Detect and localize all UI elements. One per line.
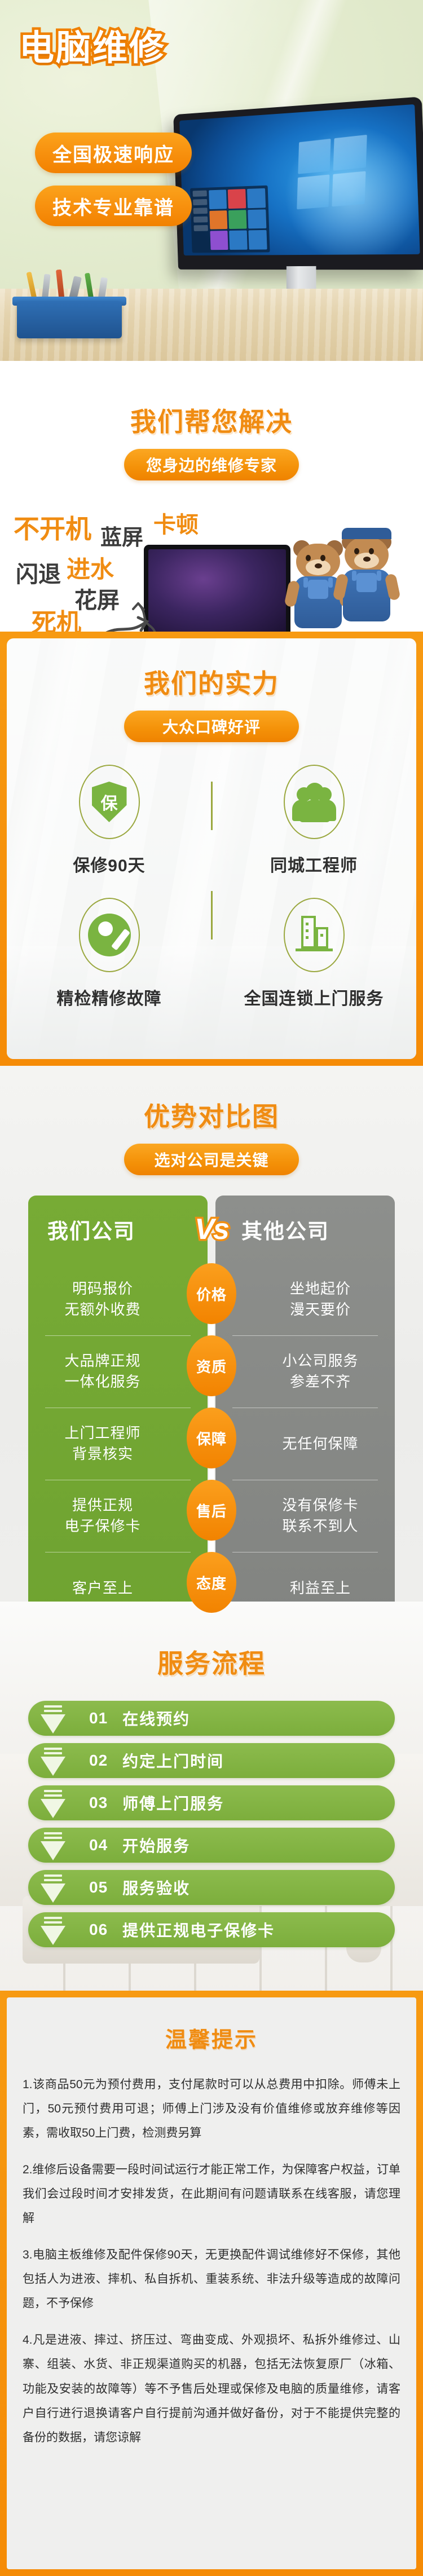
comparison-head-theirs: 其他公司 (215, 1196, 395, 1263)
strength-item-repair: 精检精修故障 (7, 898, 211, 1009)
comparison-row-ours-0: 明码报价 无额外收费 (28, 1263, 208, 1335)
hero-title: 电脑维修 (19, 31, 166, 66)
compare-title: 优势对比图 (0, 1096, 423, 1133)
windows-start-menu-icon (190, 186, 270, 253)
hero-section: 电脑维修 全国极速响应 技术专业靠谱 (0, 0, 423, 361)
compare-pill-badge: 选对公司是关键 (124, 1144, 299, 1175)
tips-title: 温馨提示 (23, 2022, 400, 2053)
step-label: 提供正规电子保修卡 (122, 1918, 275, 1941)
cell-text: 利益至上 (290, 1578, 351, 1599)
building-chain-icon (296, 916, 333, 954)
tips-item-1: 1.该商品50元为预付费用，支付尾款时可以从总费用中扣除。师傅未上门，50元预付… (23, 2072, 400, 2145)
strength-section: 我们的实力 大众口碑好评 保 保修90天 (0, 632, 423, 1066)
step-label: 在线预约 (122, 1707, 190, 1730)
down-arrow-icon (41, 1748, 65, 1780)
process-step-01[interactable]: 01 在线预约 (28, 1701, 395, 1736)
strength-label-1: 同城工程师 (270, 852, 358, 876)
comparison-column-ours: 我们公司 明码报价 无额外收费 大品牌正规 一体化服务 上门工程师 背景核实 提… (28, 1196, 208, 1624)
comparison-row-ours-2: 上门工程师 背景核实 (28, 1408, 208, 1480)
strength-item-engineer: 同城工程师 (211, 765, 416, 876)
comparison-row-ours-1: 大品牌正规 一体化服务 (28, 1335, 208, 1408)
step-number: 06 (89, 1921, 108, 1939)
strength-label-0: 保修90天 (73, 852, 145, 876)
hero-badge-nationwide: 全国极速响应 (35, 133, 192, 173)
comparison-tag-qualification: 资质 (187, 1335, 236, 1396)
compare-section: 优势对比图 选对公司是关键 我们公司 明码报价 无额外收费 大品牌正规 一体化服… (0, 1066, 423, 1602)
process-step-05[interactable]: 05 服务验收 (28, 1870, 395, 1905)
down-arrow-icon (41, 1917, 65, 1949)
comparison-tag-list: 价格 资质 保障 售后 态度 (187, 1263, 236, 1624)
cell-text: 没有保修卡 (282, 1495, 358, 1516)
comparison-tag-aftersales: 售后 (187, 1480, 236, 1541)
keyword-5: 花屏 (74, 582, 120, 615)
hero-badge-list: 全国极速响应 技术专业靠谱 (35, 133, 192, 226)
down-arrow-icon (41, 1705, 65, 1738)
tips-list: 1.该商品50元为预付费用，支付尾款时可以从总费用中扣除。师傅未上门，50元预付… (23, 2072, 400, 2450)
step-number: 04 (89, 1836, 108, 1854)
keyword-2: 卡顿 (153, 506, 199, 539)
process-step-06[interactable]: 06 提供正规电子保修卡 (28, 1912, 395, 1947)
step-label: 师傅上门服务 (122, 1792, 224, 1814)
cell-text: 联系不到人 (282, 1516, 358, 1537)
keyword-3: 闪退 (16, 556, 61, 589)
fault-keyword-cloud: 不开机 蓝屏 卡顿 闪退 进水 花屏 死机 重装 (0, 491, 423, 632)
solve-pill-badge: 您身边的维修专家 (124, 449, 299, 480)
strength-grid: 保 保修90天 同城工程师 (7, 765, 416, 1009)
comparison-table: 我们公司 明码报价 无额外收费 大品牌正规 一体化服务 上门工程师 背景核实 提… (28, 1196, 395, 1624)
cell-text: 背景核实 (72, 1444, 133, 1465)
strength-label-3: 全国连锁上门服务 (244, 985, 384, 1009)
strength-label-2: 精检精修故障 (57, 985, 162, 1009)
strength-item-chain: 全国连锁上门服务 (211, 898, 416, 1009)
cell-text: 电子保修卡 (64, 1516, 140, 1537)
hero-imac-image (166, 106, 423, 305)
down-arrow-icon (41, 1790, 65, 1823)
down-arrow-icon (41, 1832, 65, 1865)
process-section: 服务流程 01 在线预约 02 约定上门时间 03 师傅上门服务 04 开始服务… (0, 1602, 423, 1991)
process-step-03[interactable]: 03 师傅上门服务 (28, 1785, 395, 1820)
comparison-tag-guarantee: 保障 (187, 1408, 236, 1468)
cell-text: 参差不齐 (290, 1371, 351, 1392)
solve-title: 我们帮您解决 (0, 402, 423, 439)
keyword-1: 蓝屏 (100, 520, 143, 551)
process-title: 服务流程 (0, 1643, 423, 1680)
keyword-6: 死机 (32, 602, 81, 632)
cell-text: 漫天要价 (290, 1299, 351, 1320)
windows-logo-icon (297, 135, 367, 210)
tips-section: 温馨提示 1.该商品50元为预付费用，支付尾款时可以从总费用中扣除。师傅未上门，… (0, 1991, 423, 2576)
comparison-column-theirs: 其他公司 坐地起价 漫天要价 小公司服务 参差不齐 无任何保障 没有保修卡 联系… (215, 1196, 395, 1624)
shield-guarantee-icon: 保 (92, 782, 127, 822)
step-number: 03 (89, 1794, 108, 1812)
process-step-04[interactable]: 04 开始服务 (28, 1828, 395, 1863)
cell-text: 提供正规 (72, 1495, 133, 1516)
comparison-row-ours-3: 提供正规 电子保修卡 (28, 1480, 208, 1552)
comparison-row-theirs-1: 小公司服务 参差不齐 (215, 1335, 395, 1408)
strength-item-warranty: 保 保修90天 (7, 765, 211, 876)
keyword-0: 不开机 (14, 509, 91, 546)
strength-title: 我们的实力 (7, 663, 416, 700)
comparison-head-ours: 我们公司 (28, 1196, 208, 1263)
tips-item-2: 2.维修后设备需要一段时间试运行才能正常工作，为保障客户权益，订单我们会过段时间… (23, 2158, 400, 2230)
tips-item-3: 3.电脑主板维修及配件保修90天，无更换配件调试维修好不保修，其他包括人为进液、… (23, 2243, 400, 2315)
cell-text: 坐地起价 (290, 1278, 351, 1299)
cell-text: 小公司服务 (282, 1351, 358, 1371)
comparison-tag-price: 价格 (187, 1263, 236, 1324)
cell-text: 无任何保障 (282, 1433, 358, 1454)
step-label: 约定上门时间 (122, 1749, 224, 1772)
down-arrow-icon (41, 1874, 65, 1907)
mascot-bears-image (291, 530, 409, 632)
cell-text: 一体化服务 (64, 1371, 140, 1392)
step-label: 开始服务 (122, 1834, 190, 1856)
step-number: 01 (89, 1709, 108, 1727)
comparison-row-theirs-0: 坐地起价 漫天要价 (215, 1263, 395, 1335)
versus-badge: Vs (195, 1212, 228, 1246)
people-engineer-icon (292, 782, 336, 822)
cell-text: 客户至上 (72, 1578, 133, 1599)
step-label: 服务验收 (122, 1876, 190, 1899)
hero-badge-professional: 技术专业靠谱 (35, 186, 192, 226)
cell-text: 明码报价 (72, 1278, 133, 1299)
strength-pill-badge: 大众口碑好评 (124, 711, 299, 742)
step-number: 02 (89, 1752, 108, 1770)
step-number: 05 (89, 1878, 108, 1896)
comparison-row-theirs-2: 无任何保障 (215, 1408, 395, 1480)
gear-wrench-icon (88, 914, 131, 956)
cell-text: 上门工程师 (64, 1423, 140, 1444)
tips-item-4: 4.凡是进液、摔过、挤压过、弯曲变成、外观损坏、私拆外维修过、山寨、组装、水货、… (23, 2328, 400, 2449)
toolbox-image (7, 271, 131, 338)
cell-text: 大品牌正规 (64, 1351, 140, 1371)
comparison-row-theirs-3: 没有保修卡 联系不到人 (215, 1480, 395, 1552)
process-step-list: 01 在线预约 02 约定上门时间 03 师傅上门服务 04 开始服务 05 服… (28, 1701, 395, 1947)
process-step-02[interactable]: 02 约定上门时间 (28, 1743, 395, 1778)
keyword-4: 进水 (67, 550, 114, 585)
solve-section: 我们帮您解决 您身边的维修专家 (0, 361, 423, 632)
cell-text: 无额外收费 (64, 1299, 140, 1320)
